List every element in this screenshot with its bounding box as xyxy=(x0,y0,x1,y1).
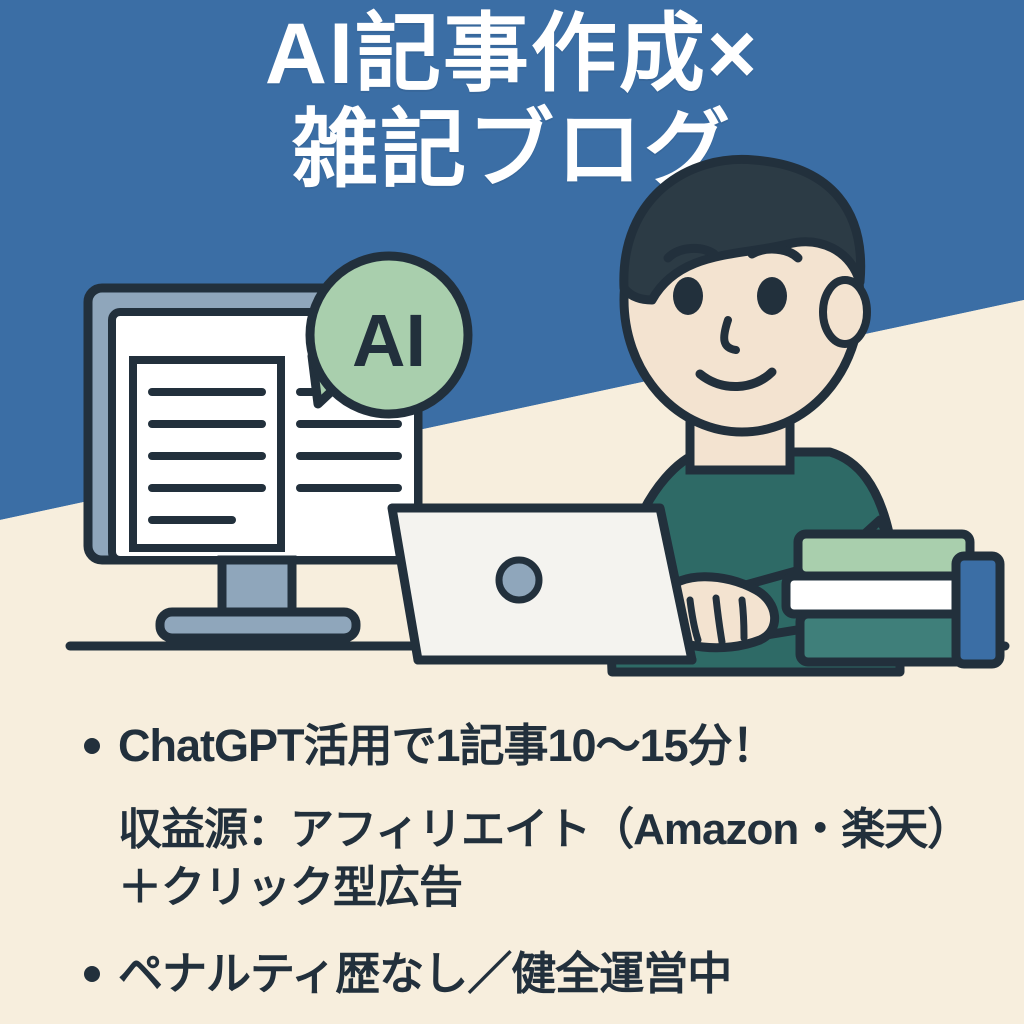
laptop-icon xyxy=(392,508,692,660)
bullet-text: ChatGPT活用で1記事10〜15分！ xyxy=(118,716,776,775)
list-item: ChatGPT活用で1記事10〜15分！ xyxy=(84,716,964,775)
eye-right xyxy=(757,277,787,315)
speech-bubble-label: AI xyxy=(352,299,426,382)
eye-left xyxy=(673,277,703,315)
list-item: ペナルティ歴なし／健全運営中 xyxy=(84,944,964,1003)
bullet-text: 収益源：アフィリエイト（Amazon・楽天）＋クリック型広告 xyxy=(118,801,964,917)
book-stack-icon xyxy=(786,534,1000,664)
poster-root: AI記事作成× 雑記ブログ xyxy=(0,0,1024,1024)
list-item: 収益源：アフィリエイト（Amazon・楽天）＋クリック型広告 xyxy=(84,801,964,917)
bullet-dot-icon xyxy=(84,738,100,754)
bullet-dot-icon xyxy=(84,966,100,982)
bullet-text: ペナルティ歴なし／健全運営中 xyxy=(118,944,731,1003)
bullet-list: ChatGPT活用で1記事10〜15分！ 収益源：アフィリエイト（Amazon・… xyxy=(84,716,964,1024)
